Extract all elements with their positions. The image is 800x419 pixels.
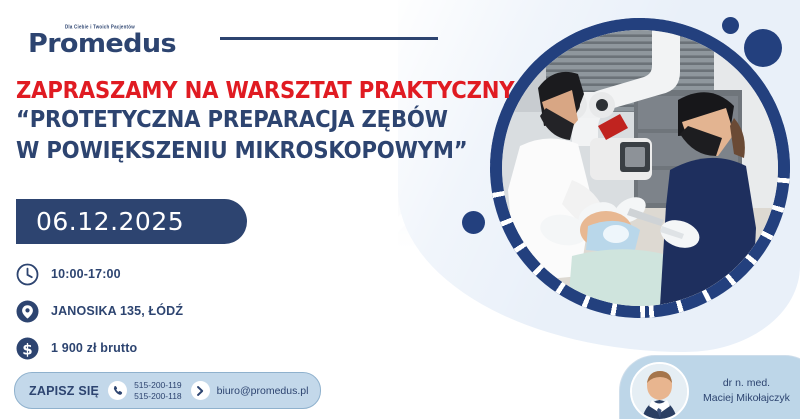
clock-icon <box>16 263 39 286</box>
arrow-right-icon[interactable] <box>191 381 210 400</box>
detail-row-location: JANOSIKA 135, ŁÓDŹ <box>16 295 183 327</box>
detail-location-text: JANOSIKA 135, ŁÓDŹ <box>51 304 183 318</box>
speaker-info: dr n. med. Maciej Mikołajczyk <box>703 376 790 406</box>
header-divider-line <box>220 37 438 40</box>
contact-email[interactable]: biuro@promedus.pl <box>217 385 309 397</box>
signup-contact-bar[interactable]: ZAPISZ SIĘ 515-200-119 515-200-118 biuro… <box>14 372 321 409</box>
detail-time-text: 10:00-17:00 <box>51 267 121 281</box>
detail-row-price: $ 1 900 zł brutto <box>16 332 183 364</box>
location-icon <box>16 300 39 323</box>
event-details-list: 10:00-17:00 JANOSIKA 135, ŁÓDŹ $ 1 900 z… <box>16 258 183 369</box>
headline-line-2: “PROTETYCZNA PREPARACJA ZĘBÓW <box>16 105 412 136</box>
speaker-name: Maciej Mikołajczyk <box>703 391 790 406</box>
brand-logo: Dla Ciebie i Twoich Pacjentów Promedus <box>28 25 170 57</box>
phone-number-2: 515-200-118 <box>134 391 182 402</box>
svg-text:$: $ <box>22 340 32 358</box>
phone-number-1: 515-200-119 <box>134 380 182 391</box>
speaker-card: dr n. med. Maciej Mikołajczyk <box>620 356 800 419</box>
avatar <box>630 362 689 419</box>
headline-block: ZAPRASZAMY NA WARSZTAT PRAKTYCZNY “PROTE… <box>16 78 446 167</box>
event-date-badge: 06.12.2025 <box>16 199 247 244</box>
hero-photo-circle <box>490 18 790 318</box>
phone-icon[interactable] <box>108 381 127 400</box>
clinic-photo <box>502 30 778 306</box>
speaker-title: dr n. med. <box>703 376 790 391</box>
brand-name: Promedus <box>28 31 176 57</box>
detail-row-time: 10:00-17:00 <box>16 258 183 290</box>
headline-line-3: W POWIĘKSZENIU MIKROSKOPOWYM” <box>16 136 412 167</box>
phone-numbers[interactable]: 515-200-119 515-200-118 <box>134 380 182 402</box>
headline-line-1: ZAPRASZAMY NA WARSZTAT PRAKTYCZNY <box>16 78 412 105</box>
detail-price-text: 1 900 zł brutto <box>51 341 137 355</box>
event-poster: Dla Ciebie i Twoich Pacjentów Promedus Z… <box>0 0 800 419</box>
decorative-dot-medium <box>462 211 485 234</box>
signup-label: ZAPISZ SIĘ <box>29 384 99 398</box>
money-icon: $ <box>16 337 39 360</box>
event-date-value: 06.12.2025 <box>36 207 184 236</box>
